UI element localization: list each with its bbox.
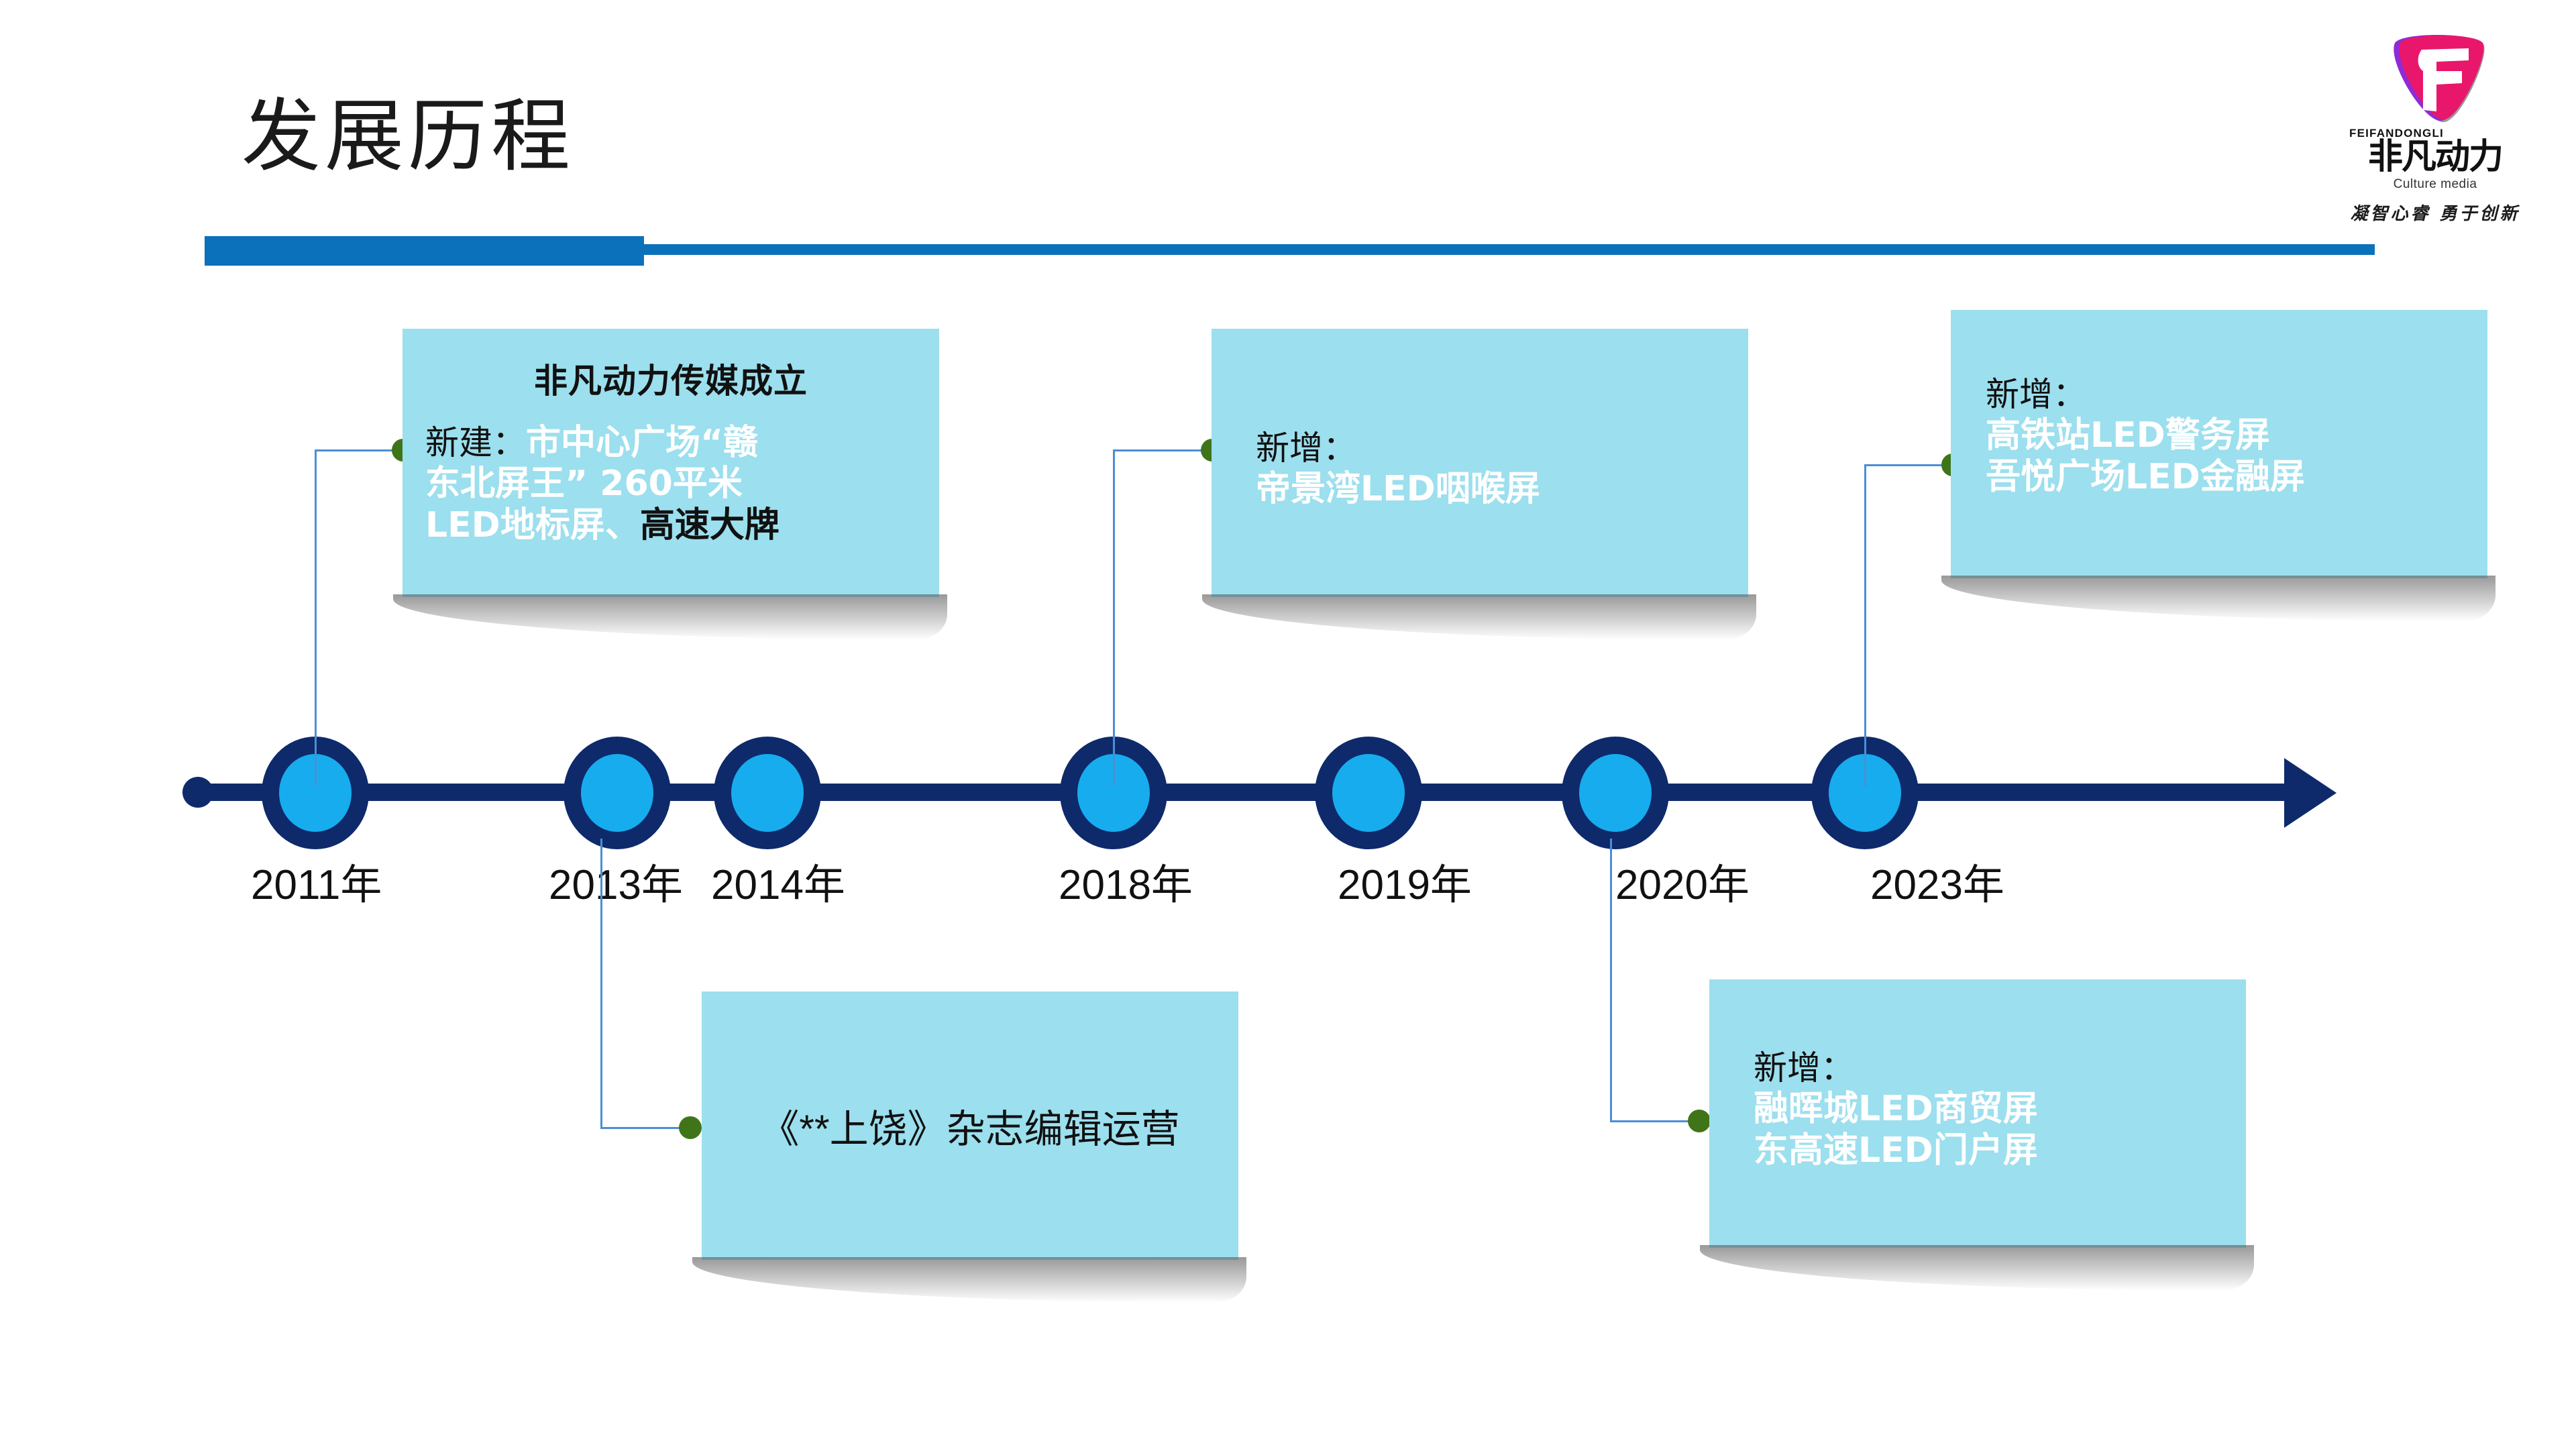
milestone-card-2011[interactable]: 非凡动力传媒成立 新建：市中心广场“赣 东北屏王” 260平米 LED地标屏、高…	[402, 329, 939, 597]
title-rule-thin	[644, 244, 2375, 255]
timeline-year-label: 2023年	[1870, 851, 2004, 911]
card-shadow	[1202, 594, 1756, 640]
title-rule-thick	[205, 236, 644, 266]
logo-name-cn: 非凡动力	[2334, 139, 2536, 176]
timeline-year-label: 2014年	[711, 851, 845, 911]
slide-canvas: 发展历程 FEIFANDONGLI 非凡动力 Culture media 凝智心…	[0, 0, 2576, 1449]
milestone-card-2018[interactable]: 新增： 帝景湾LED咽喉屏	[1212, 329, 1748, 597]
milestone-card-2020[interactable]: 新增： 融晖城LED商贸屏 东高速LED门户屏	[1709, 979, 2246, 1248]
card-text-line: 融晖城LED商贸屏	[1754, 1089, 2038, 1129]
card-shadow	[1700, 1245, 2254, 1291]
card-shadow	[692, 1257, 1246, 1303]
card-text-line: 市中心广场“赣	[526, 423, 758, 463]
logo-tagline: 凝智心睿 勇于创新	[2334, 200, 2536, 225]
card-text-line: 《**上饶》杂志编辑运营	[760, 1108, 1179, 1151]
card-text-line: 吾悦广场LED金融屏	[1986, 457, 2305, 497]
node-inner-dot	[581, 754, 653, 832]
logo-wordmark: FEIFANDONGLI 非凡动力 Culture media 凝智心睿 勇于创…	[2334, 127, 2536, 225]
timeline-year-label: 2011年	[251, 851, 382, 911]
card-heading: 非凡动力传媒成立	[425, 354, 916, 402]
node-inner-dot	[731, 754, 804, 832]
timeline-node-2013[interactable]	[563, 737, 671, 849]
card-shadow	[1941, 576, 2495, 621]
timeline-year-label: 2020年	[1615, 851, 1750, 911]
card-text-line: 东北屏王” 260平米	[425, 464, 743, 504]
card-shadow	[393, 594, 947, 640]
company-logo: FEIFANDONGLI 非凡动力 Culture media 凝智心睿 勇于创…	[2334, 27, 2536, 228]
card-text-line: 东高速LED门户屏	[1754, 1130, 2038, 1171]
connector-dot-2013	[679, 1116, 702, 1139]
card-text-line: LED地标屏、	[425, 505, 640, 545]
connector-dot-2020	[1688, 1110, 1711, 1132]
page-title: 发展历程	[241, 94, 574, 181]
timeline-year-label: 2013年	[549, 851, 683, 911]
card-lead: 新增：	[1256, 429, 1356, 467]
timeline-node-2019[interactable]	[1315, 737, 1422, 849]
timeline-node-2014[interactable]	[714, 737, 821, 849]
logo-subtitle: Culture media	[2334, 177, 2536, 192]
card-lead: 新增：	[1986, 376, 2086, 413]
card-lead: 新增：	[1754, 1049, 1854, 1087]
node-inner-dot	[1332, 754, 1405, 832]
timeline-year-label: 2018年	[1059, 851, 1193, 911]
card-text-line: 高铁站LED警务屏	[1986, 415, 2270, 455]
milestone-card-2023[interactable]: 新增： 高铁站LED警务屏 吾悦广场LED金融屏	[1951, 310, 2487, 578]
card-text-line: 高速大牌	[640, 505, 780, 545]
card-lead: 新建：	[425, 424, 526, 462]
node-inner-dot	[1579, 754, 1652, 832]
card-text-line: 帝景湾LED咽喉屏	[1256, 469, 1540, 509]
logo-f-mark-icon	[2375, 27, 2495, 127]
timeline-axis	[201, 784, 2308, 801]
milestone-card-2013[interactable]: 《**上饶》杂志编辑运营	[702, 991, 1238, 1260]
timeline-node-2020[interactable]	[1562, 737, 1669, 849]
timeline-year-label: 2019年	[1338, 851, 1472, 911]
timeline-arrow-icon	[2284, 758, 2337, 828]
